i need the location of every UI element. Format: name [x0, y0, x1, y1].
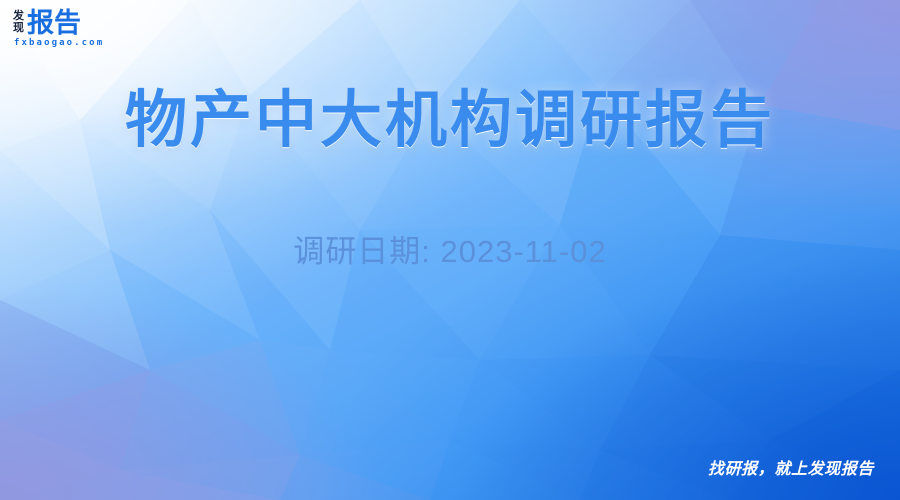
report-cover-slide: 发 现 报告 fxbaogao.com 物产中大机构调研报告 调研日期: 202…: [0, 0, 900, 500]
footer-tagline: 找研报，就上发现报告: [708, 455, 874, 479]
logo-row: 发 现 报告: [13, 10, 81, 36]
logo-mark-line-1: 发: [13, 10, 24, 22]
logo-domain: fxbaogao.com: [14, 39, 104, 48]
logo-wordmark: 报告: [27, 10, 81, 36]
title-block: 物产中大机构调研报告: [0, 84, 900, 158]
brand-logo[interactable]: 发 现 报告 fxbaogao.com: [13, 10, 104, 48]
logo-mark: 发 现: [13, 10, 24, 36]
logo-mark-line-2: 现: [13, 22, 24, 34]
cover-subtitle: 调研日期: 2023-11-02: [0, 230, 900, 274]
page-title: 物产中大机构调研报告: [0, 84, 900, 158]
